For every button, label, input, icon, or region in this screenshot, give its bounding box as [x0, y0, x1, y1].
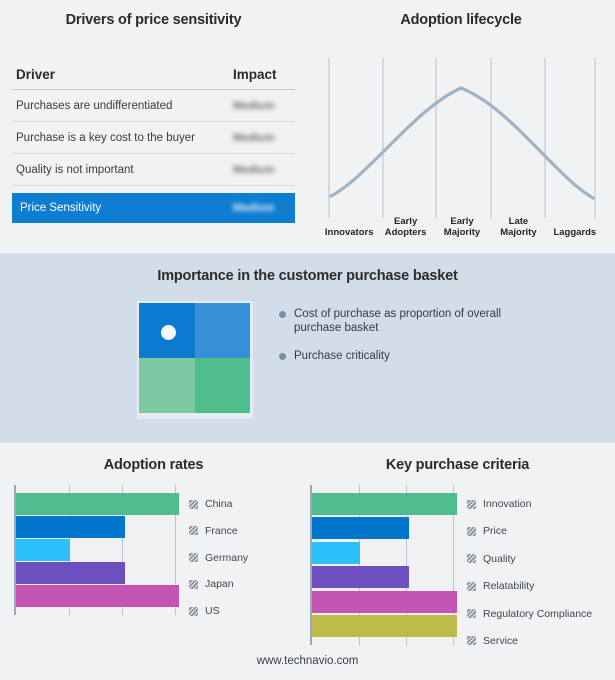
bar-germany: [16, 539, 70, 561]
legend-label: Germany: [205, 552, 248, 564]
bar-japan: [16, 562, 125, 584]
legend-item: Price: [467, 520, 592, 542]
panel-adoption-rates: Adoption rates ChinaFranceGermanyJapanUS: [0, 443, 307, 680]
legend-item: Innovation: [467, 493, 592, 515]
legend-swatch-icon: [467, 636, 476, 645]
legend-item: US: [189, 600, 248, 622]
legend-label: Relatability: [483, 580, 534, 592]
top-band: Drivers of price sensitivity Driver Impa…: [0, 0, 615, 253]
legend-swatch-icon: [189, 526, 198, 535]
lifecycle-stage-early-majority: Early Majority: [434, 198, 490, 240]
quadrant-marker-dot: [161, 325, 176, 340]
legend-swatch-icon: [467, 527, 476, 536]
legend-swatch-icon: [189, 607, 198, 616]
list-item: Cost of purchase as proportion of overal…: [279, 307, 529, 335]
impact-value: Medium: [233, 202, 295, 214]
legend-item: China: [189, 493, 248, 515]
legend-item: France: [189, 520, 248, 542]
legend-label: Price: [483, 525, 507, 537]
bullet-icon: [279, 353, 286, 360]
legend-label: Innovation: [483, 498, 531, 510]
bottom-band: Adoption rates ChinaFranceGermanyJapanUS…: [0, 443, 615, 680]
quadrant-graphic: [139, 303, 250, 413]
quadrant-bottom-left: [139, 358, 195, 413]
plot-area-criteria: [310, 485, 457, 645]
bar-us: [16, 585, 179, 607]
lifecycle-stage-early-adopters: Early Adopters: [377, 198, 433, 240]
page-title-key-purchase-criteria: Key purchase criteria: [300, 443, 615, 473]
basket-legend-label: Cost of purchase as proportion of overal…: [294, 307, 529, 335]
legend-item: Regulatory Compliance: [467, 603, 592, 625]
legend-item: Germany: [189, 547, 248, 569]
drivers-table: Driver Impact Purchases are undifferenti…: [12, 60, 295, 223]
infographic-root: Drivers of price sensitivity Driver Impa…: [0, 0, 615, 680]
table-header-row: Driver Impact: [12, 60, 295, 90]
bar-relatability: [312, 566, 409, 588]
legend-label: Japan: [205, 578, 234, 590]
page-title-drivers: Drivers of price sensitivity: [0, 12, 307, 28]
quadrant-bottom-right: [195, 358, 251, 413]
legend-swatch-icon: [189, 500, 198, 509]
list-item: Purchase criticality: [279, 349, 529, 363]
legend-key-purchase-criteria: InnovationPriceQualityRelatabilityRegula…: [467, 485, 592, 653]
legend-swatch-icon: [467, 609, 476, 618]
impact-value: Medium: [233, 164, 295, 176]
legend-swatch-icon: [189, 553, 198, 562]
impact-value: Medium: [233, 132, 295, 144]
legend-label: France: [205, 525, 238, 537]
impact-value: Medium: [233, 100, 295, 112]
legend-swatch-icon: [467, 554, 476, 563]
bar-series-criteria: [312, 493, 457, 637]
bar-series-adoption: [16, 493, 179, 607]
driver-label: Purchase is a key cost to the buyer: [12, 132, 233, 144]
panel-key-purchase-criteria: Key purchase criteria InnovationPriceQua…: [300, 443, 615, 680]
legend-item: Service: [467, 630, 592, 652]
lifecycle-stage-laggards: Laggards: [547, 198, 603, 240]
legend-label: Service: [483, 635, 518, 647]
column-header-driver: Driver: [12, 67, 233, 82]
lifecycle-chart: Innovators Early Adopters Early Majority…: [321, 58, 603, 240]
lifecycle-stage-late-majority: Late Majority: [490, 198, 546, 240]
bar-innovation: [312, 493, 457, 515]
bar-regulatory-compliance: [312, 591, 457, 613]
table-row: Purchases are undifferentiated Medium: [12, 90, 295, 122]
page-title-purchase-basket: Importance in the customer purchase bask…: [0, 268, 615, 284]
lifecycle-stage-labels: Innovators Early Adopters Early Majority…: [321, 198, 603, 240]
page-title-adoption-rates: Adoption rates: [0, 443, 307, 473]
basket-body: Cost of purchase as proportion of overal…: [0, 301, 615, 419]
legend-adoption-rates: ChinaFranceGermanyJapanUS: [189, 485, 248, 623]
quadrant-top-right: [195, 303, 251, 358]
driver-label-price-sensitivity: Price Sensitivity: [16, 202, 233, 214]
table-row: Quality is not important Medium: [12, 154, 295, 186]
panel-drivers-of-price-sensitivity: Drivers of price sensitivity Driver Impa…: [0, 0, 307, 253]
driver-label: Quality is not important: [12, 164, 233, 176]
plot-area-adoption: [14, 485, 179, 615]
driver-label: Purchases are undifferentiated: [12, 100, 233, 112]
lifecycle-gridlines: [329, 58, 595, 218]
basket-legend: Cost of purchase as proportion of overal…: [279, 307, 529, 377]
quadrant-graphic-frame: [137, 301, 253, 419]
legend-item: Japan: [189, 573, 248, 595]
legend-swatch-icon: [467, 582, 476, 591]
footer-url: www.technavio.com: [0, 655, 615, 667]
legend-label: US: [205, 605, 220, 617]
chart-adoption-rates: ChinaFranceGermanyJapanUS: [14, 485, 248, 623]
bar-france: [16, 516, 125, 538]
lifecycle-bell-curve-svg: [321, 58, 603, 218]
bar-quality: [312, 542, 360, 564]
chart-key-purchase-criteria: InnovationPriceQualityRelatabilityRegula…: [310, 485, 592, 653]
bar-service: [312, 615, 457, 637]
legend-label: China: [205, 498, 232, 510]
page-title-lifecycle: Adoption lifecycle: [307, 12, 615, 28]
basket-legend-label: Purchase criticality: [294, 349, 390, 363]
legend-swatch-icon: [189, 580, 198, 589]
legend-swatch-icon: [467, 500, 476, 509]
bar-china: [16, 493, 179, 515]
panel-purchase-basket: Importance in the customer purchase bask…: [0, 253, 615, 443]
legend-item: Relatability: [467, 575, 592, 597]
lifecycle-stage-innovators: Innovators: [321, 198, 377, 240]
legend-item: Quality: [467, 548, 592, 570]
bar-price: [312, 517, 409, 539]
bell-curve-path: [331, 88, 593, 198]
bullet-icon: [279, 311, 286, 318]
table-row-highlighted: Price Sensitivity Medium: [12, 193, 295, 223]
quadrant-top-left: [139, 303, 195, 358]
legend-label: Regulatory Compliance: [483, 608, 592, 620]
column-header-impact: Impact: [233, 67, 295, 82]
legend-label: Quality: [483, 553, 516, 565]
table-row: Purchase is a key cost to the buyer Medi…: [12, 122, 295, 154]
panel-adoption-lifecycle: Adoption lifecycle Innovators Ear: [307, 0, 615, 253]
